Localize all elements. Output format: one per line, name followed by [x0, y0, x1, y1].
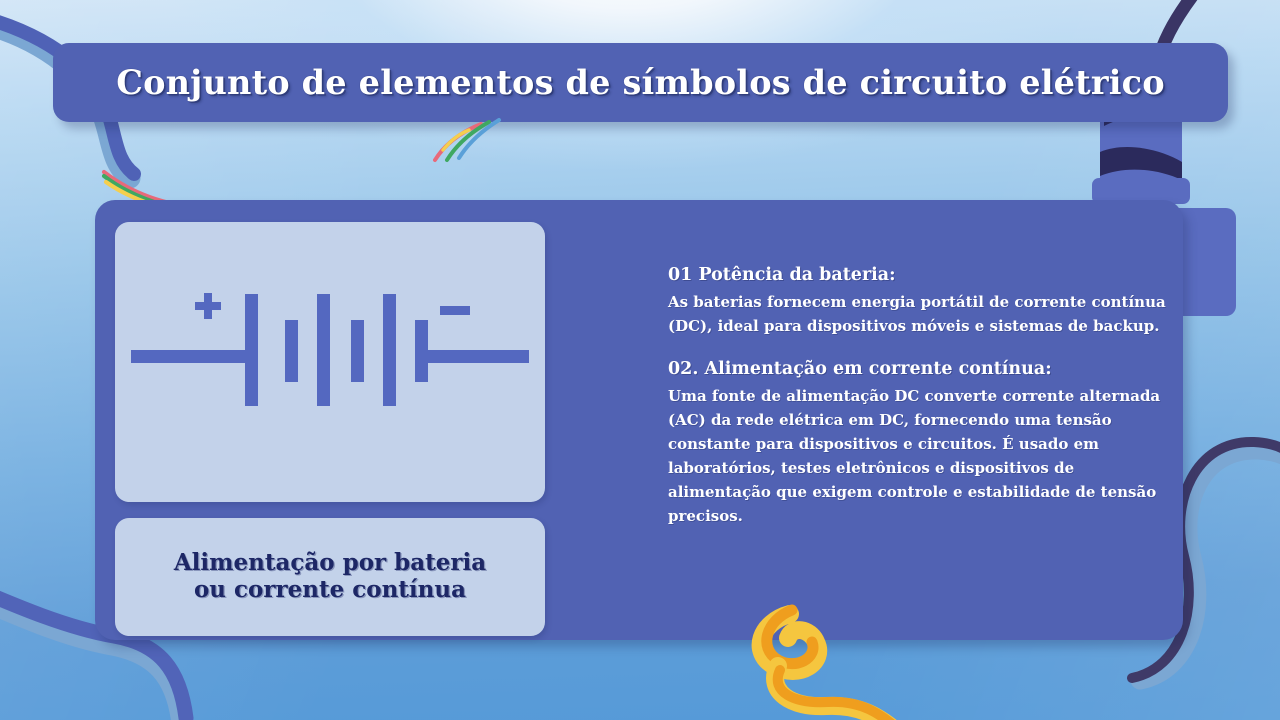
entry-item: 01 Potência da bateria: As baterias forn…: [668, 264, 1168, 338]
entry-heading: 02. Alimentação em corrente contínua:: [668, 358, 1168, 381]
page-title: Conjunto de elementos de símbolos de cir…: [116, 63, 1165, 102]
entry-heading: 01 Potência da bateria:: [668, 264, 1168, 287]
entry-body: Uma fonte de alimentação DC converte cor…: [668, 384, 1168, 528]
symbol-card: [115, 222, 545, 502]
battery-dc-source-symbol-icon: [115, 262, 545, 462]
caption-card: Alimentação por bateria ou corrente cont…: [115, 518, 545, 636]
entry-body: As baterias fornecem energia portátil de…: [668, 290, 1168, 338]
caption-label: Alimentação por bateria ou corrente cont…: [160, 550, 500, 604]
slide-title-bar: Conjunto de elementos de símbolos de cir…: [53, 43, 1228, 122]
entry-item: 02. Alimentação em corrente contínua: Um…: [668, 358, 1168, 528]
text-column: 01 Potência da bateria: As baterias forn…: [668, 264, 1168, 528]
slide-canvas: Conjunto de elementos de símbolos de cir…: [0, 0, 1280, 720]
